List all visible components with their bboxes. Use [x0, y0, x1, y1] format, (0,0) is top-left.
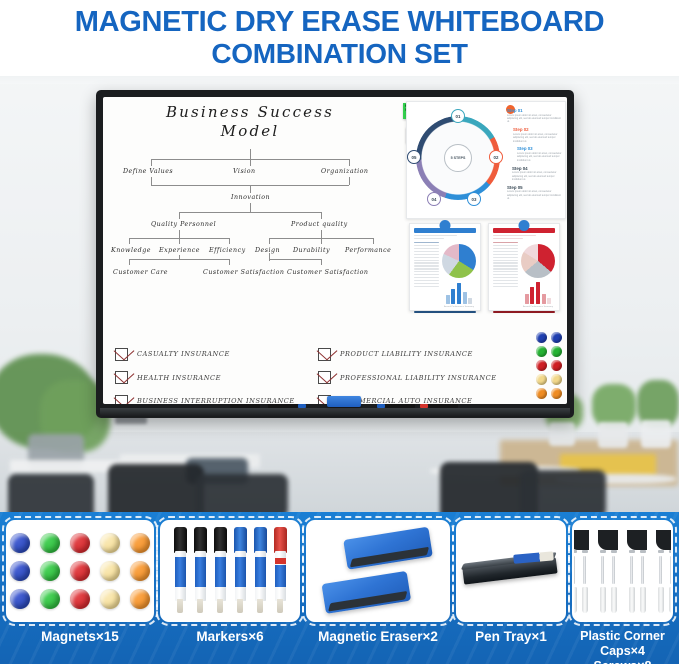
checklist-item: PROFESSIONAL LIABILITY INSURANCE	[318, 371, 497, 385]
tray-marker-cap	[298, 404, 306, 408]
connector	[179, 238, 180, 244]
pie-chart	[442, 244, 476, 278]
checklist-item: BUSINESS INTERRUPTION INSURANCE	[115, 394, 295, 404]
whiteboard-surface: Business Success Model Define Values Vis…	[103, 97, 567, 404]
anchor	[669, 587, 674, 613]
step-item: Step 05 Lorem ipsum dolor sit amet, cons…	[507, 185, 563, 201]
report-footer-bar	[493, 311, 555, 314]
bar	[547, 298, 551, 304]
caption-erasers: Magnetic Eraser×2	[306, 628, 450, 662]
board-magnet	[536, 388, 547, 399]
checklist-label: CASUALTY INSURANCE	[137, 350, 230, 358]
checklist-column-left: CASUALTY INSURANCE HEALTH INSURANCE BUSI…	[115, 347, 295, 404]
panel-mounting-hardware	[572, 520, 673, 622]
pen-tray	[462, 557, 557, 584]
node-customer-satisfaction-left: Customer Satisfaction	[203, 269, 284, 277]
magnet	[40, 533, 60, 553]
anchor	[582, 587, 588, 613]
marker-blue	[234, 527, 247, 615]
tray-eraser	[327, 396, 361, 407]
connector	[321, 212, 322, 219]
panel-magnetic-erasers	[306, 520, 450, 622]
anchor	[600, 587, 606, 613]
corner-cap	[572, 530, 589, 550]
magnet	[100, 561, 120, 581]
hardware-group	[572, 530, 673, 613]
report-table	[414, 242, 439, 308]
magnet	[10, 589, 30, 609]
whiteboard: Business Success Model Define Values Vis…	[96, 90, 574, 418]
magnet	[70, 533, 90, 553]
pie-chart	[521, 244, 555, 278]
poster-five-steps: 5 STEPS 01 02 03 04 05 Step 01 Lorem ips…	[406, 101, 566, 219]
donut-chart: 5 STEPS 01 02 03 04 05	[411, 112, 503, 208]
tray-marker	[230, 404, 260, 408]
bar	[463, 292, 467, 304]
checkbox-checked-icon	[318, 371, 331, 384]
hardware-set	[627, 530, 647, 613]
caption-markers: Markers×6	[160, 628, 300, 662]
board-magnet	[551, 346, 562, 357]
accessory-strip: Magnets×15 Markers×6 Magnetic Eraser×2 P…	[0, 512, 679, 664]
bar	[525, 294, 529, 304]
node-customer-satisfaction-right: Customer Satisfaction	[287, 269, 368, 277]
anchor	[611, 587, 617, 613]
text-line	[414, 235, 457, 236]
tray-marker	[268, 404, 298, 408]
connector	[269, 253, 270, 261]
pen-tray-marker	[513, 551, 554, 563]
checklist-item: CASUALTY INSURANCE	[115, 347, 295, 361]
hardware-set	[598, 530, 618, 613]
checkbox-checked-icon	[115, 348, 128, 361]
node-vision: Vision	[233, 168, 256, 175]
caption-magnets: Magnets×15	[6, 628, 154, 662]
step-body: Lorem ipsum dolor sit amet, consectetur …	[513, 133, 563, 143]
whiteboard-pen-tray	[100, 408, 570, 417]
step-bullet-02: 02	[489, 150, 503, 164]
bar	[536, 282, 540, 304]
bar	[530, 287, 534, 305]
accessory-captions: Magnets×15 Markers×6 Magnetic Eraser×2 P…	[6, 628, 673, 662]
magnet	[70, 589, 90, 609]
magnet	[100, 533, 120, 553]
pen-tray-group	[463, 551, 559, 591]
bar	[451, 289, 455, 304]
bar-chart	[521, 282, 555, 304]
caption-hardware-line-2: Screws×8 Anchors×8	[572, 659, 673, 664]
bar	[457, 283, 461, 304]
step-item: Step 02 Lorem ipsum dolor sit amet, cons…	[507, 127, 563, 143]
accessory-panels	[6, 520, 673, 622]
magnet	[40, 589, 60, 609]
connector	[179, 212, 180, 219]
magnet	[10, 561, 30, 581]
board-magnet	[536, 346, 547, 357]
checkbox-checked-icon	[115, 371, 128, 384]
connector	[179, 230, 180, 238]
text-line	[414, 238, 444, 239]
magnet	[130, 533, 150, 553]
poster-red-report: Annual Performance Summary	[488, 223, 560, 311]
report-charts: Annual Performance Summary	[442, 242, 476, 308]
text-line	[493, 235, 536, 236]
magnet	[130, 589, 150, 609]
connector	[321, 259, 322, 265]
report-footer-bar	[414, 311, 476, 314]
step-bullet-04: 04	[427, 192, 441, 206]
connector	[229, 259, 230, 265]
connector	[151, 177, 152, 185]
checklist-label: BUSINESS INTERRUPTION INSURANCE	[137, 397, 295, 404]
step-body: Lorem ipsum dolor sit amet, consectetur …	[512, 171, 563, 181]
panel-pen-tray	[456, 520, 566, 622]
chart-caption: Annual Performance Summary	[442, 306, 476, 308]
checkbox-checked-icon	[318, 348, 331, 361]
connector	[179, 255, 180, 260]
planter-right-1	[549, 422, 575, 446]
board-magnet	[536, 360, 547, 371]
step-bullet-03: 03	[467, 192, 481, 206]
node-organization: Organization	[321, 168, 369, 175]
tray-marker-cap	[377, 404, 385, 408]
bar	[446, 295, 450, 304]
board-magnet	[551, 388, 562, 399]
planter-right-3	[641, 420, 671, 448]
connector	[250, 149, 251, 159]
hardware-set	[656, 530, 673, 613]
anchor	[658, 587, 664, 613]
step-bullet-05: 05	[407, 150, 421, 164]
connector	[321, 230, 322, 238]
caption-pen-tray: Pen Tray×1	[456, 628, 566, 662]
report-charts: Annual Performance Summary	[521, 242, 555, 308]
headline-line-1: MAGNETIC DRY ERASE WHITEBOARD	[75, 6, 604, 38]
checkbox-checked-icon	[115, 395, 128, 405]
step-item: Step 04 Lorem ipsum dolor sit amet, cons…	[507, 166, 563, 182]
report-table	[493, 242, 518, 308]
product-infographic: MAGNETIC DRY ERASE WHITEBOARD COMBINATIO…	[0, 0, 679, 664]
checklist-label: PROFESSIONAL LIABILITY INSURANCE	[340, 374, 497, 382]
checklist-item: HEALTH INSURANCE	[115, 371, 295, 385]
headline-banner: MAGNETIC DRY ERASE WHITEBOARD COMBINATIO…	[0, 0, 679, 76]
magnetic-eraser	[343, 527, 433, 570]
planter-right-2	[598, 422, 628, 448]
board-magnet	[536, 374, 547, 385]
connector	[129, 259, 130, 265]
connector	[321, 238, 322, 244]
panel-magnets	[6, 520, 154, 622]
donut-center-label: 5 STEPS	[444, 144, 472, 172]
marker-red	[274, 527, 287, 615]
checklist-label: HEALTH INSURANCE	[137, 374, 221, 382]
tray-marker	[428, 404, 458, 408]
step-item: Step 01 Lorem ipsum dolor sit amet, cons…	[507, 108, 563, 124]
marker-black	[214, 527, 227, 615]
eraser-group	[323, 532, 433, 610]
connector	[129, 238, 130, 244]
poster-blue-report: Annual Performance Summary	[409, 223, 481, 311]
headline-line-2: COMBINATION SET	[211, 38, 467, 70]
anchor	[640, 587, 646, 613]
connector	[269, 259, 321, 260]
board-magnet	[551, 374, 562, 385]
diagram-title-line-2: Model	[109, 122, 391, 141]
magnet	[100, 589, 120, 609]
hardware-set	[572, 530, 589, 613]
chair-right-2	[520, 470, 606, 518]
diagram-title-line-1: Business Success	[109, 103, 391, 122]
connector	[373, 238, 374, 244]
magnet	[70, 561, 90, 581]
text-line	[493, 238, 523, 239]
step-body: Lorem ipsum dolor sit amet, consectetur …	[507, 190, 563, 200]
connector	[229, 238, 230, 244]
magnet	[130, 561, 150, 581]
connector	[349, 159, 350, 166]
connector	[250, 159, 251, 166]
connector	[151, 159, 152, 166]
business-model-diagram: Business Success Model Define Values Vis…	[109, 103, 391, 333]
caption-hardware-line-1: Plastic Corner Caps×4	[572, 629, 673, 659]
bar-chart	[442, 282, 476, 304]
node-product-quality: Product quality	[291, 221, 348, 228]
steps-description-list: Step 01 Lorem ipsum dolor sit amet, cons…	[507, 108, 563, 204]
node-experience: Experience	[159, 247, 200, 254]
node-define-values: Define Values	[123, 168, 173, 175]
node-durability: Durability	[293, 247, 330, 254]
step-body: Lorem ipsum dolor sit amet, consectetur …	[517, 152, 563, 162]
node-performance: Performance	[345, 247, 391, 254]
node-knowledge: Knowledge	[111, 247, 151, 254]
node-design: Design	[255, 247, 280, 254]
corner-cap	[598, 530, 618, 550]
magnet-clip	[440, 220, 451, 231]
caption-hardware: Plastic Corner Caps×4 Screws×8 Anchors×8	[572, 628, 673, 662]
board-magnet-grid	[536, 332, 562, 399]
checklist-item: PRODUCT LIABILITY INSURANCE	[318, 347, 497, 361]
board-magnet	[551, 360, 562, 371]
connector	[179, 212, 321, 213]
node-customer-care: Customer Care	[113, 269, 168, 277]
board-magnet	[551, 332, 562, 343]
step-body: Lorem ipsum dolor sit amet, consectetur …	[507, 114, 563, 124]
marker-row	[174, 527, 287, 615]
marker-black	[194, 527, 207, 615]
magnet	[40, 561, 60, 581]
connector	[349, 177, 350, 185]
chair-left-2	[108, 464, 204, 518]
magnet-grid	[10, 533, 150, 609]
step-item: Step 03 Lorem ipsum dolor sit amet, cons…	[507, 146, 563, 162]
magnetic-eraser	[321, 571, 411, 614]
node-innovation: Innovation	[231, 194, 270, 201]
checklist-label: PRODUCT LIABILITY INSURANCE	[340, 350, 473, 358]
connector	[250, 203, 251, 212]
magnet	[10, 533, 30, 553]
report-body: Annual Performance Summary	[414, 242, 476, 308]
connector	[250, 185, 251, 193]
node-efficiency: Efficiency	[209, 247, 246, 254]
report-body: Annual Performance Summary	[493, 242, 555, 308]
anchor	[572, 587, 577, 613]
step-bullet-01: 01	[451, 109, 465, 123]
marker-black	[174, 527, 187, 615]
tray-marker-cap	[420, 404, 428, 408]
marker-blue	[254, 527, 267, 615]
connector	[269, 238, 270, 244]
corner-cap	[627, 530, 647, 550]
bar	[542, 294, 546, 305]
magnet-clip	[519, 220, 530, 231]
panel-markers	[160, 520, 300, 622]
corner-cap	[656, 530, 673, 550]
anchor	[629, 587, 635, 613]
node-quality-personnel: Quality Personnel	[151, 221, 216, 228]
board-magnet	[536, 332, 547, 343]
tray-marker	[385, 404, 415, 408]
chart-caption: Annual Performance Summary	[521, 306, 555, 308]
bar	[468, 298, 472, 305]
